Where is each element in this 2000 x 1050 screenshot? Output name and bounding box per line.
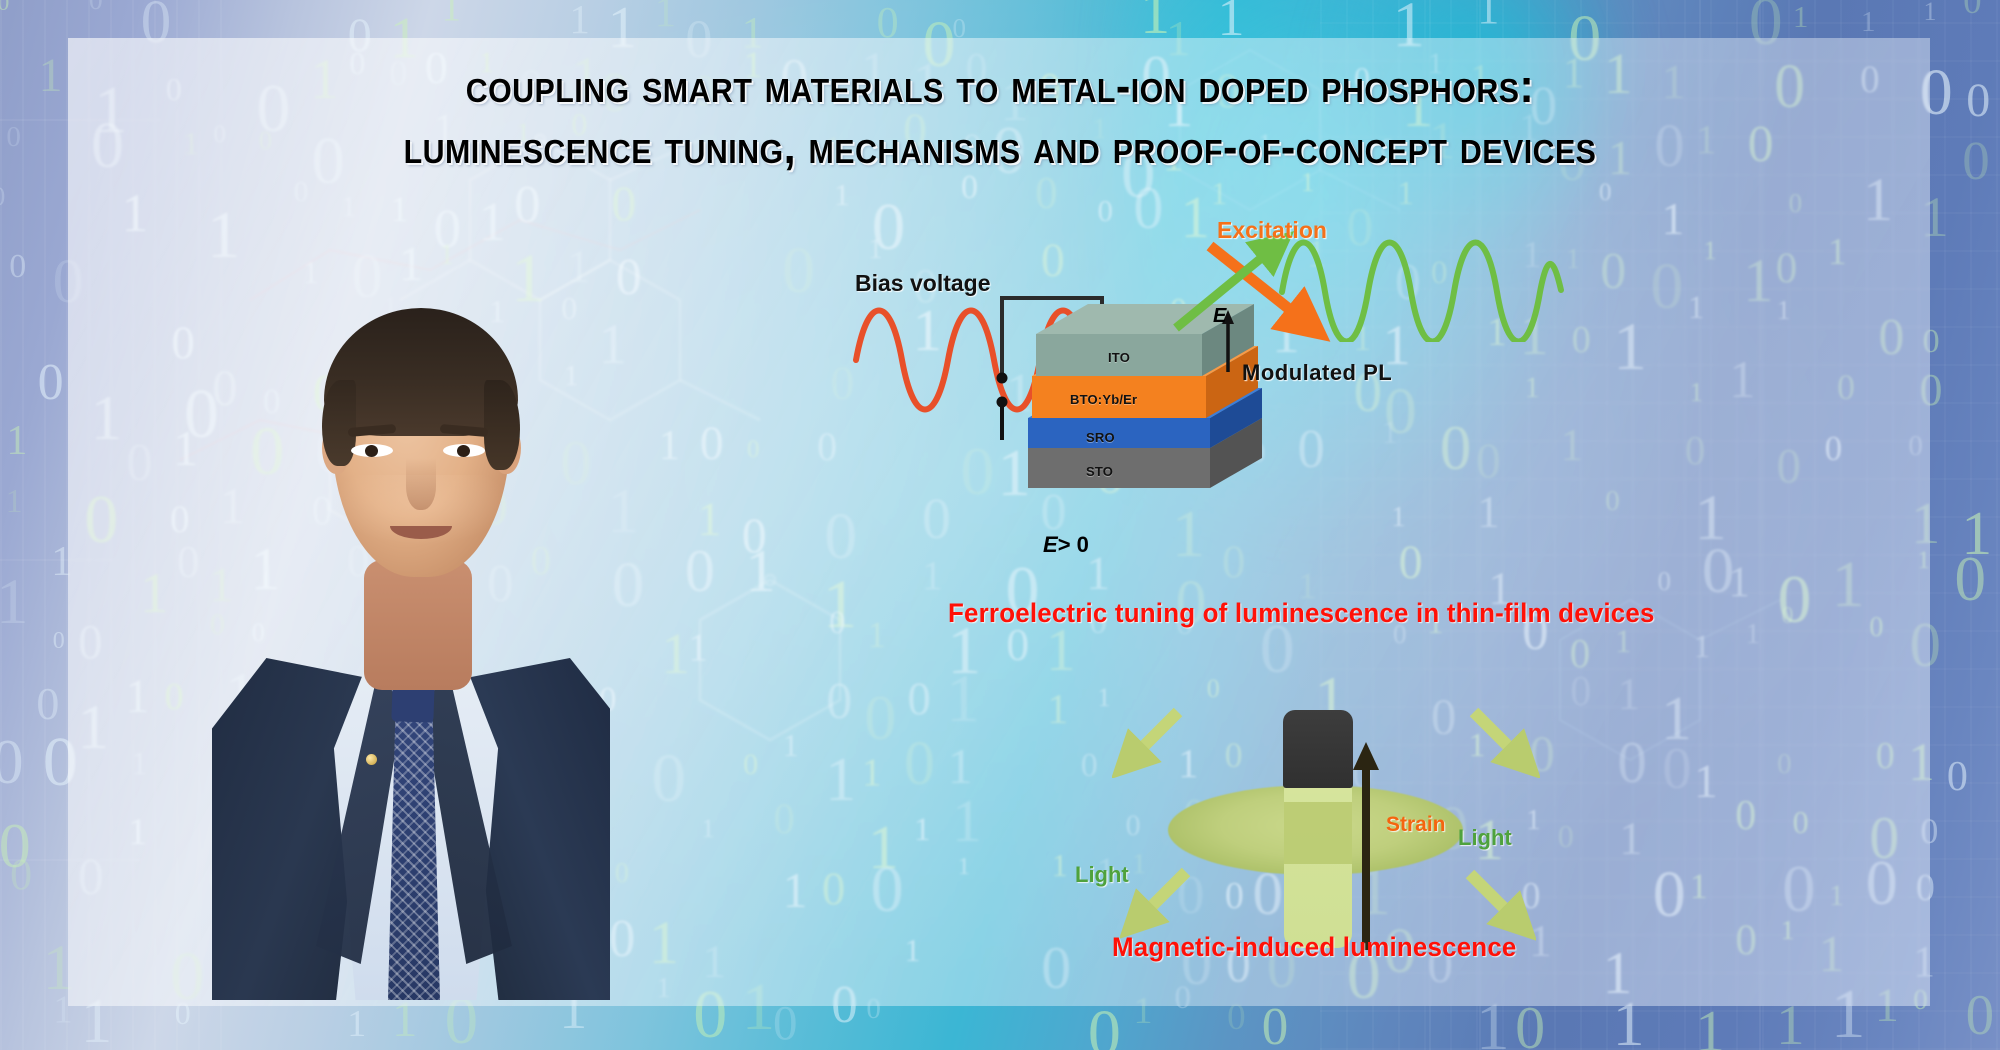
nose xyxy=(406,458,436,510)
light-ray-upper-left xyxy=(1112,698,1192,778)
magnetic-luminescence-figure: Strain Light Light xyxy=(1080,650,1560,940)
efield-symbol: E xyxy=(1043,532,1058,557)
excitation-label: Excitation xyxy=(1217,217,1327,244)
caption-magnetic: Magnetic-induced luminescence xyxy=(1112,932,1517,963)
light-label-left: Light xyxy=(1075,862,1129,888)
layer-label-bto: BTO:Yb/Er xyxy=(1070,392,1137,407)
layer-label-sro: SRO xyxy=(1086,430,1115,445)
page-title: Coupling smart materials to metal-ion do… xyxy=(0,55,2000,177)
title-line-2: luminescence tuning, mechanisms and proo… xyxy=(80,116,1920,177)
hair-side-left xyxy=(322,380,356,466)
light-label-right: Light xyxy=(1458,825,1512,851)
efield-arrow-label: E xyxy=(1213,305,1226,328)
title-line-1: Coupling smart materials to metal-ion do… xyxy=(80,55,1920,116)
necktie xyxy=(388,716,440,1000)
bias-voltage-label: Bias voltage xyxy=(855,270,991,297)
author-portrait xyxy=(212,230,610,1000)
light-ray-lower-left xyxy=(1120,860,1200,940)
light-ray-lower-right xyxy=(1456,862,1536,942)
ferroelectric-device-figure: ITO BTO:Yb/Er SRO STO Excitation Bias vo… xyxy=(950,210,1790,610)
efield-comparison: > 0 xyxy=(1058,532,1089,557)
modulated-pl-label: Modulated PL xyxy=(1242,360,1392,386)
efield-condition-label: E> 0 xyxy=(1043,532,1089,558)
light-ray-upper-right xyxy=(1460,698,1540,778)
portrait-bottom-fade xyxy=(212,974,610,1000)
eye-left xyxy=(351,444,393,457)
eye-right xyxy=(443,444,485,457)
layer-label-sto: STO xyxy=(1086,464,1113,479)
magnet-cap xyxy=(1283,710,1353,788)
lapel-pin xyxy=(366,754,377,765)
strain-arrow-icon xyxy=(1346,738,1386,954)
layer-label-ito: ITO xyxy=(1108,350,1130,365)
caption-ferroelectric: Ferroelectric tuning of luminescence in … xyxy=(948,598,1655,629)
neck xyxy=(364,560,472,690)
phosphor-vial-disc-overlap xyxy=(1284,802,1352,864)
strain-label: Strain xyxy=(1386,813,1446,837)
